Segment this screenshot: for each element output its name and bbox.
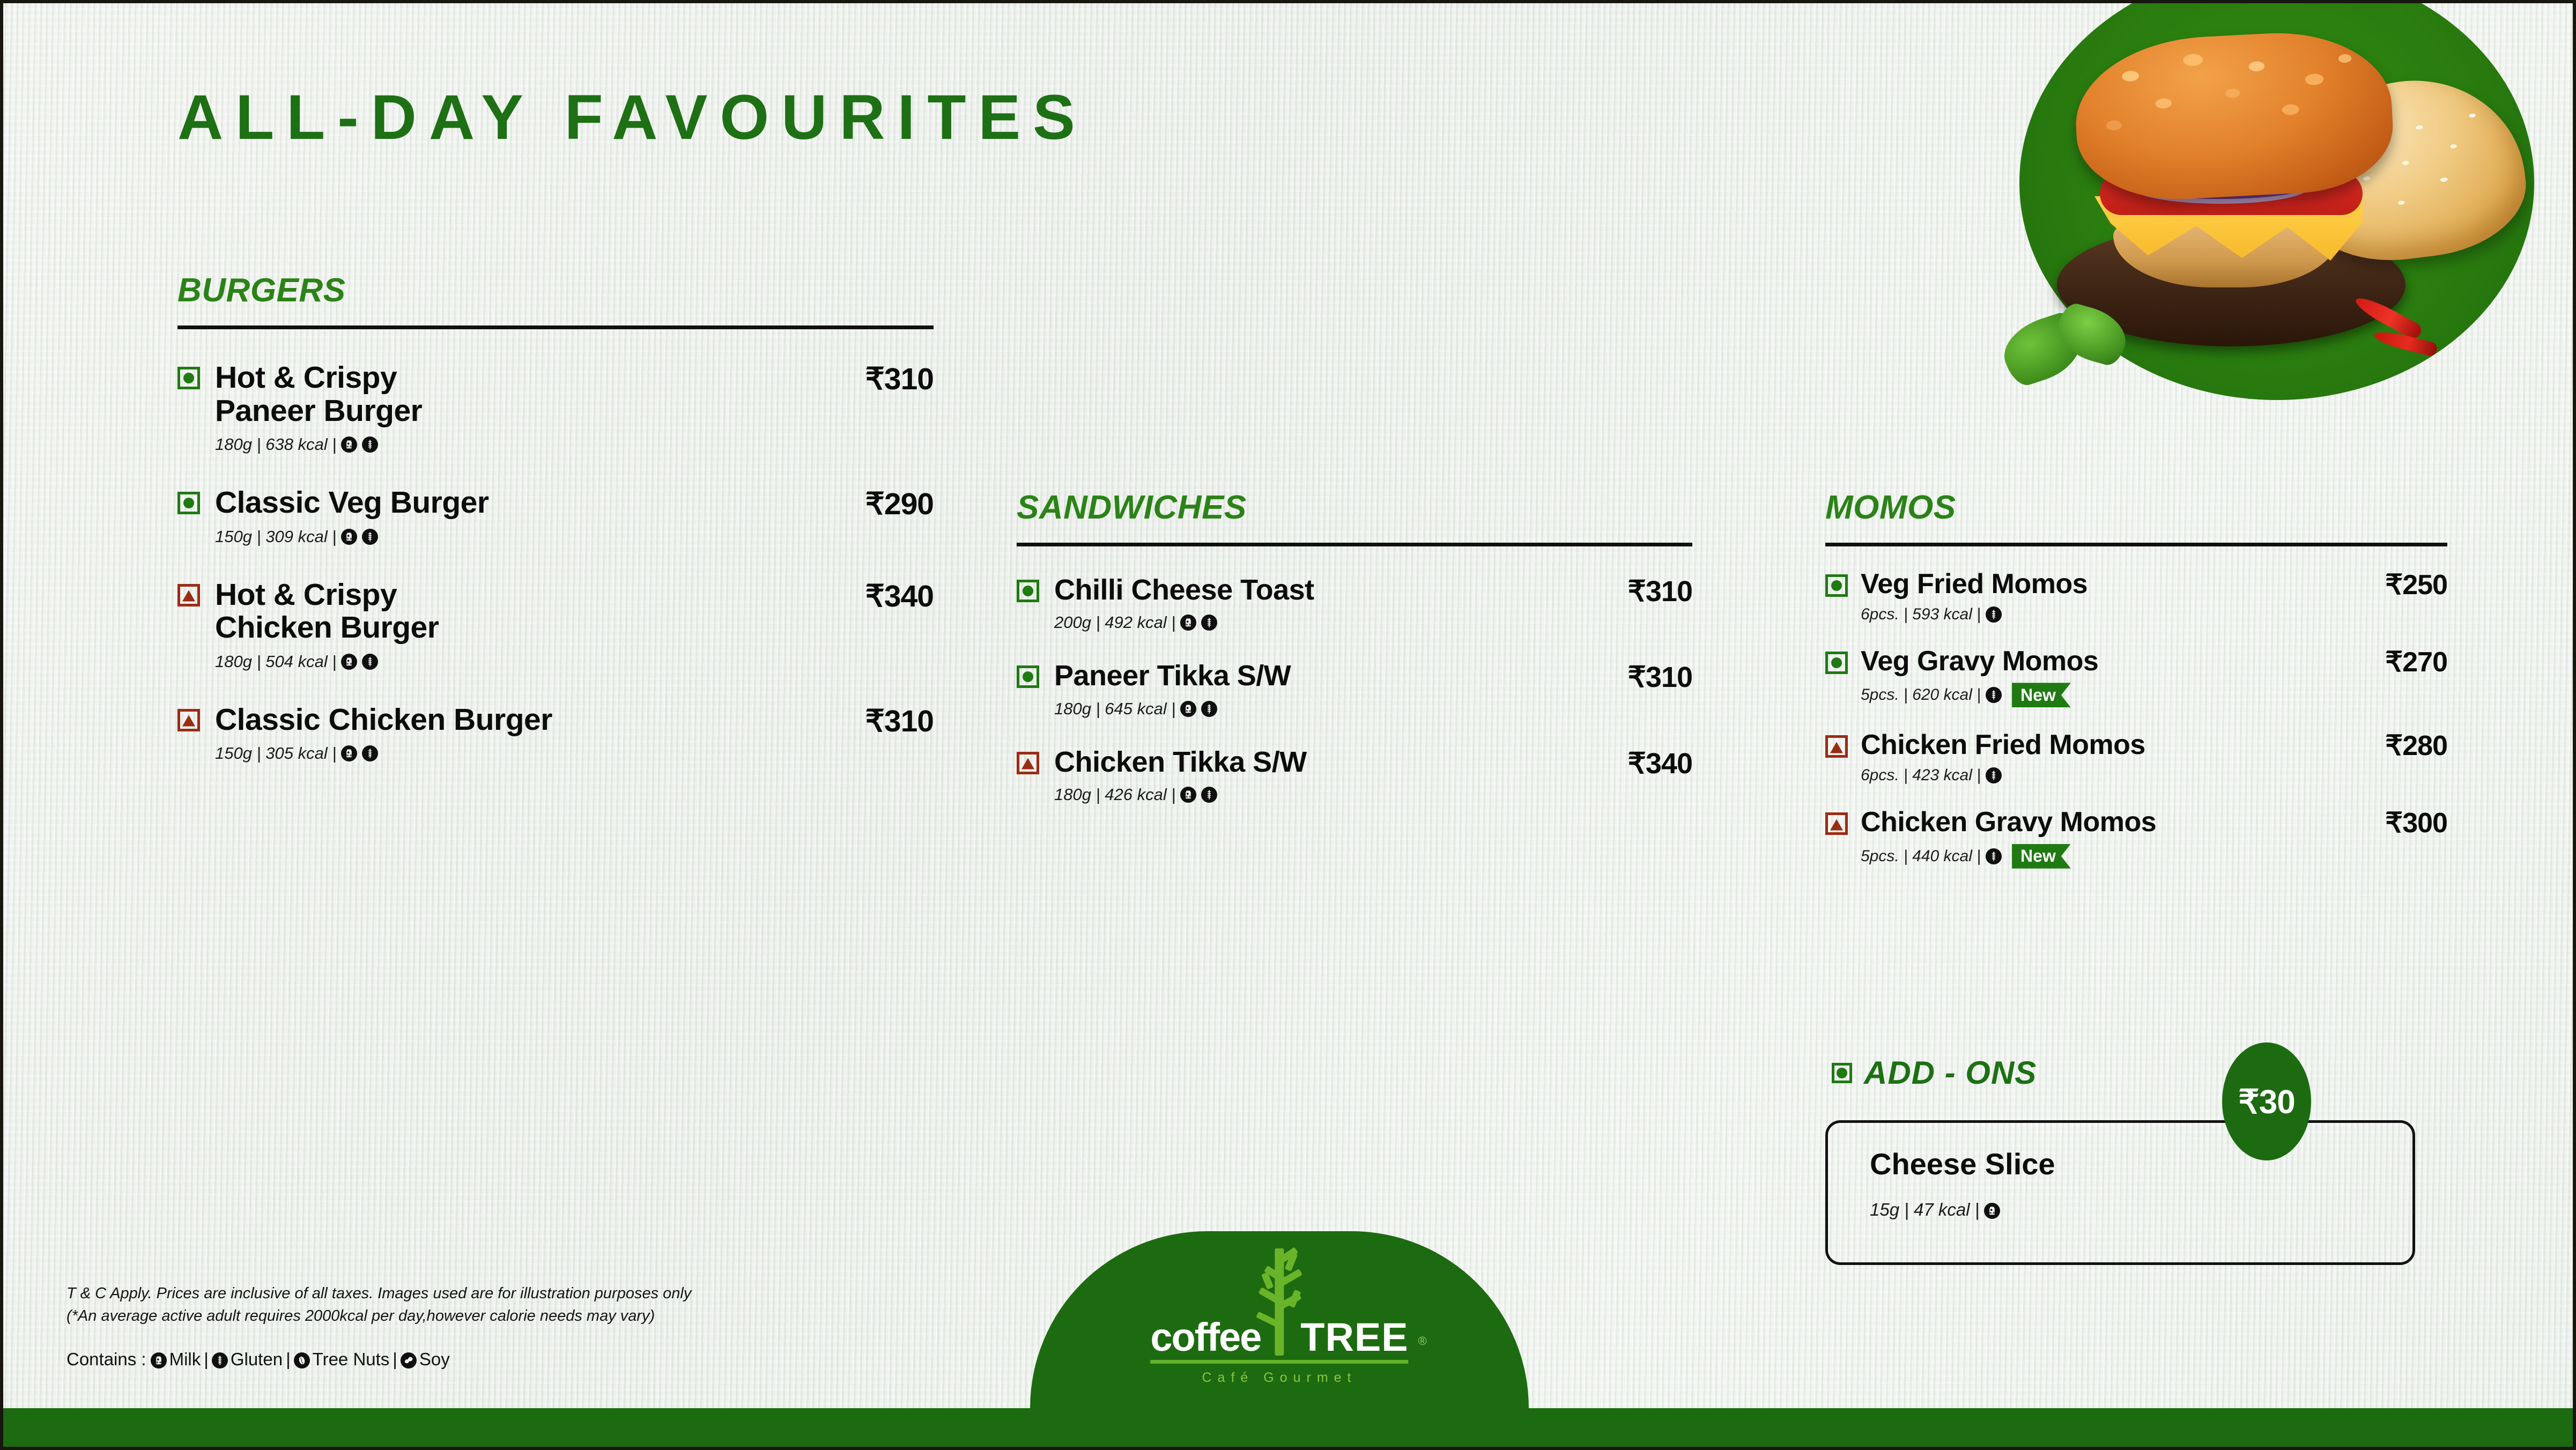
brand-logo: coffee TREE ® Café Gourmet xyxy=(1150,1308,1408,1386)
gluten-allergen-icon xyxy=(362,654,378,670)
menu-item-name: Chilli Cheese Toast xyxy=(1054,574,1577,605)
menu-item-name: Paneer Tikka S/W xyxy=(1054,660,1577,691)
menu-item-meta: 200g | 492 kcal | xyxy=(1054,613,1577,632)
page-title: ALL-DAY FAVOURITES xyxy=(177,81,1087,154)
burgers-item-list: Hot & CrispyPaneer Burger180g | 638 kcal… xyxy=(177,361,934,763)
menu-item-name: Classic Chicken Burger xyxy=(215,704,810,737)
addon-item-name: Cheese Slice xyxy=(1870,1146,2412,1181)
menu-item-price: ₹310 xyxy=(810,704,934,739)
menu-item-meta: 150g | 309 kcal | xyxy=(215,527,810,546)
section-title-sandwiches: SANDWICHES xyxy=(1017,489,1692,527)
menu-item-name: Chicken Tikka S/W xyxy=(1054,746,1577,778)
gluten-allergen-icon xyxy=(1986,687,2002,703)
menu-item[interactable]: Chilli Cheese Toast200g | 492 kcal |₹310 xyxy=(1017,574,1692,632)
addon-meta-text: 15g | 47 kcal | xyxy=(1870,1200,1979,1220)
menu-item-meta: 180g | 645 kcal | xyxy=(1054,699,1577,719)
menu-item-meta-text: 6pcs. | 593 kcal | xyxy=(1861,605,1981,624)
menu-item-name: Chicken Fried Momos xyxy=(1861,730,2337,760)
treenuts-allergen-icon xyxy=(294,1352,310,1368)
menu-item[interactable]: Chicken Tikka S/W180g | 426 kcal |₹340 xyxy=(1017,746,1692,804)
gluten-allergen-icon xyxy=(1201,701,1217,717)
menu-item-meta-text: 180g | 638 kcal | xyxy=(215,435,336,454)
menu-item-meta: 6pcs. | 423 kcal | xyxy=(1861,766,2337,785)
menu-item-price: ₹310 xyxy=(810,361,934,397)
addon-allergen-icons xyxy=(1984,1200,2000,1220)
milk-allergen-icon xyxy=(1180,701,1196,717)
gluten-allergen-icon xyxy=(362,745,378,761)
section-addons: ADD - ONS ₹30 Cheese Slice 15g | 47 kcal… xyxy=(1825,1054,2415,1265)
menu-item[interactable]: Classic Chicken Burger150g | 305 kcal |₹… xyxy=(177,704,934,764)
menu-item[interactable]: Veg Fried Momos6pcs. | 593 kcal |₹250 xyxy=(1825,569,2447,624)
milk-allergen-icon xyxy=(341,529,357,545)
logo-wordmark: coffee TREE ® xyxy=(1150,1308,1408,1356)
non-veg-marker-icon xyxy=(177,584,200,606)
menu-item-meta-text: 180g | 426 kcal | xyxy=(1054,785,1175,804)
menu-item-meta: 180g | 504 kcal | xyxy=(215,652,810,671)
gluten-allergen-icon xyxy=(1986,767,2002,783)
menu-item-name: Hot & CrispyPaneer Burger xyxy=(215,361,810,427)
veg-marker-icon xyxy=(1832,1063,1852,1083)
new-badge: New xyxy=(2012,683,2071,707)
logo-tagline: Café Gourmet xyxy=(1150,1370,1408,1386)
menu-item-meta-text: 180g | 645 kcal | xyxy=(1054,699,1175,719)
legend-label: Milk xyxy=(169,1349,201,1369)
tree-icon xyxy=(1239,1231,1320,1356)
veg-marker-icon xyxy=(1017,580,1039,602)
non-veg-marker-icon xyxy=(177,709,200,731)
menu-item-price: ₹340 xyxy=(810,579,934,614)
legend-separator: | xyxy=(204,1349,209,1369)
veg-marker-icon xyxy=(177,492,200,514)
section-momos: MOMOS Veg Fried Momos6pcs. | 593 kcal |₹… xyxy=(1825,489,2447,869)
menu-item-price: ₹280 xyxy=(2337,730,2447,762)
gluten-allergen-icon xyxy=(1986,848,2002,864)
milk-allergen-icon xyxy=(1180,787,1196,803)
menu-item[interactable]: Classic Veg Burger150g | 309 kcal |₹290 xyxy=(177,486,934,546)
section-divider xyxy=(177,325,934,329)
menu-item-meta: 5pcs. | 620 kcal |New xyxy=(1861,683,2337,707)
veg-marker-icon xyxy=(177,367,200,389)
section-title-burgers: BURGERS xyxy=(177,271,934,309)
addon-item-card[interactable]: Cheese Slice 15g | 47 kcal | xyxy=(1825,1120,2415,1265)
addon-price-badge: ₹30 xyxy=(2222,1042,2311,1160)
menu-item-name: Hot & CrispyChicken Burger xyxy=(215,579,810,645)
menu-item-price: ₹340 xyxy=(1577,746,1692,780)
disclaimer-line-1: T & C Apply. Prices are inclusive of all… xyxy=(66,1282,978,1305)
milk-allergen-icon xyxy=(1180,615,1196,631)
menu-item-meta: 150g | 305 kcal | xyxy=(215,744,810,763)
section-sandwiches: SANDWICHES Chilli Cheese Toast200g | 492… xyxy=(1017,489,1692,804)
gluten-allergen-icon xyxy=(1201,615,1217,631)
footer-logo-dome: coffee TREE ® Café Gourmet xyxy=(1030,1231,1529,1408)
contains-label: Contains : xyxy=(66,1349,146,1370)
menu-item-meta: 180g | 638 kcal | xyxy=(215,435,810,454)
menu-item-name: Chicken Gravy Momos xyxy=(1861,807,2337,837)
gluten-allergen-icon xyxy=(1201,787,1217,803)
veg-marker-icon xyxy=(1017,665,1039,688)
gluten-allergen-icon xyxy=(1986,606,2002,623)
menu-item[interactable]: Hot & CrispyPaneer Burger180g | 638 kcal… xyxy=(177,361,934,454)
menu-item-name: Veg Fried Momos xyxy=(1861,569,2337,599)
non-veg-marker-icon xyxy=(1017,752,1039,774)
menu-item-meta-text: 5pcs. | 620 kcal | xyxy=(1861,686,1981,704)
new-badge: New xyxy=(2012,844,2071,869)
menu-item-meta-text: 5pcs. | 440 kcal | xyxy=(1861,847,1981,865)
milk-allergen-icon xyxy=(1984,1203,2000,1219)
menu-item[interactable]: Chicken Fried Momos6pcs. | 423 kcal |₹28… xyxy=(1825,730,2447,785)
menu-item-price: ₹310 xyxy=(1577,660,1692,694)
soy-allergen-icon xyxy=(401,1352,417,1368)
menu-item-meta-text: 6pcs. | 423 kcal | xyxy=(1861,766,1981,785)
menu-item[interactable]: Chicken Gravy Momos5pcs. | 440 kcal |New… xyxy=(1825,807,2447,868)
menu-item-meta: 180g | 426 kcal | xyxy=(1054,785,1577,804)
menu-item[interactable]: Paneer Tikka S/W180g | 645 kcal |₹310 xyxy=(1017,660,1692,718)
milk-allergen-icon xyxy=(341,654,357,670)
milk-allergen-icon xyxy=(341,437,357,453)
non-veg-marker-icon xyxy=(1825,735,1848,758)
hero-burger-image xyxy=(2019,0,2534,400)
addons-header: ADD - ONS xyxy=(1832,1054,2415,1091)
menu-item-meta-text: 150g | 309 kcal | xyxy=(215,527,336,546)
menu-item-name: Veg Gravy Momos xyxy=(1861,646,2337,676)
milk-allergen-icon xyxy=(151,1352,167,1368)
addon-item-meta: 15g | 47 kcal | xyxy=(1870,1200,2412,1220)
legend-label: Gluten xyxy=(231,1349,283,1369)
menu-item-price: ₹310 xyxy=(1577,574,1692,608)
legend-separator: | xyxy=(286,1349,291,1369)
gluten-allergen-icon xyxy=(212,1352,228,1368)
menu-item-price: ₹300 xyxy=(2337,807,2447,839)
momos-item-list: Veg Fried Momos6pcs. | 593 kcal |₹250Veg… xyxy=(1825,569,2447,869)
legend-label: Soy xyxy=(419,1349,450,1369)
gluten-allergen-icon xyxy=(362,437,378,453)
fried-chicken-art xyxy=(2072,27,2396,204)
footer-bar xyxy=(3,1408,2573,1447)
menu-item-meta: 5pcs. | 440 kcal |New xyxy=(1861,844,2337,869)
menu-item[interactable]: Veg Gravy Momos5pcs. | 620 kcal |New₹270 xyxy=(1825,646,2447,707)
legend-separator: | xyxy=(393,1349,397,1369)
allergen-legend: Contains : Milk|Gluten|Tree Nuts|Soy xyxy=(66,1349,450,1370)
menu-item-price: ₹250 xyxy=(2337,569,2447,601)
menu-item-name: Classic Veg Burger xyxy=(215,486,810,520)
section-divider xyxy=(1017,543,1692,546)
menu-item[interactable]: Hot & CrispyChicken Burger180g | 504 kca… xyxy=(177,579,934,671)
section-burgers: BURGERS Hot & CrispyPaneer Burger180g | … xyxy=(177,271,934,763)
menu-item-price: ₹270 xyxy=(2337,646,2447,678)
disclaimer-line-2: (*An average active adult requires 2000k… xyxy=(66,1305,978,1327)
veg-marker-icon xyxy=(1825,574,1848,597)
menu-item-meta: 6pcs. | 593 kcal | xyxy=(1861,605,2337,624)
menu-item-meta-text: 180g | 504 kcal | xyxy=(215,652,336,671)
logo-underline xyxy=(1150,1360,1408,1364)
addons-title: ADD - ONS xyxy=(1864,1054,2037,1091)
non-veg-marker-icon xyxy=(1825,812,1848,835)
veg-marker-icon xyxy=(1825,652,1848,674)
menu-item-meta-text: 200g | 492 kcal | xyxy=(1054,613,1175,632)
milk-allergen-icon xyxy=(341,745,357,761)
legend-label: Tree Nuts xyxy=(313,1349,390,1369)
allergen-legend-items: Milk|Gluten|Tree Nuts|Soy xyxy=(151,1349,450,1370)
menu-item-meta-text: 150g | 305 kcal | xyxy=(215,744,336,763)
section-divider xyxy=(1825,543,2447,546)
section-title-momos: MOMOS xyxy=(1825,489,2447,527)
disclaimer-text: T & C Apply. Prices are inclusive of all… xyxy=(66,1282,978,1328)
menu-page: ALL-DAY FAVOURITES BURGERS Hot & CrispyP… xyxy=(0,0,2576,1450)
menu-item-price: ₹290 xyxy=(810,486,934,522)
registered-trademark-icon: ® xyxy=(1418,1334,1426,1348)
sandwiches-item-list: Chilli Cheese Toast200g | 492 kcal |₹310… xyxy=(1017,574,1692,804)
gluten-allergen-icon xyxy=(362,529,378,545)
